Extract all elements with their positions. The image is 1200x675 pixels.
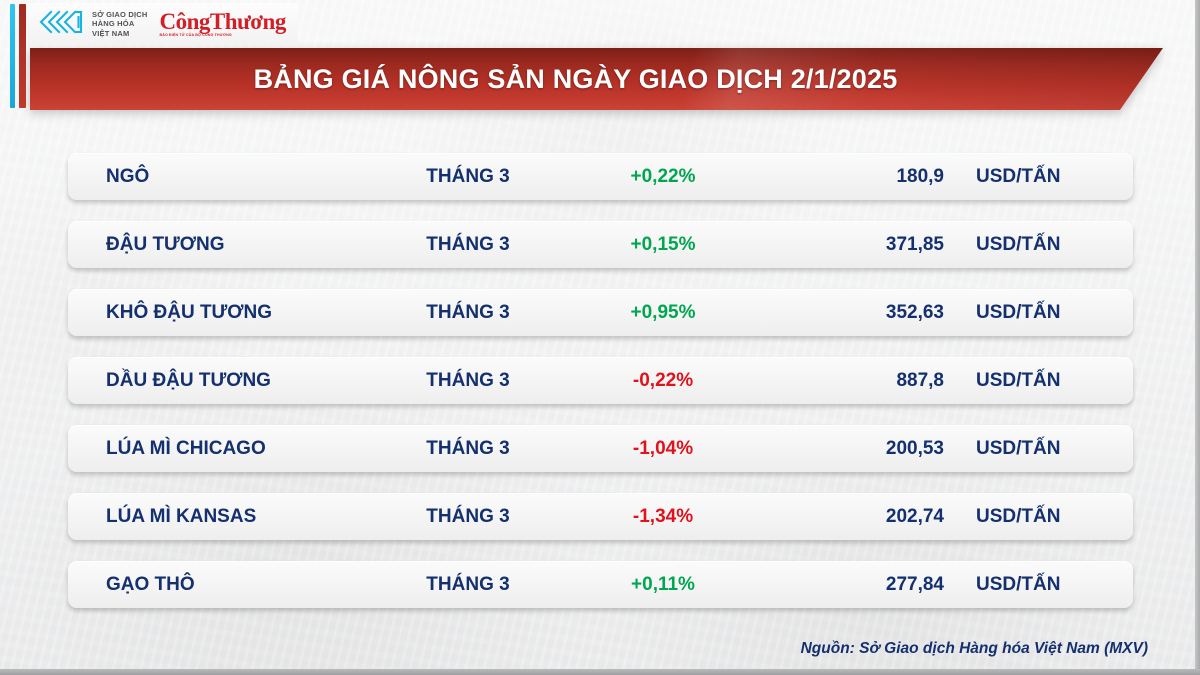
contract-month: THÁNG 3 — [368, 574, 568, 596]
congthuong-wordmark: CôngThương — [159, 10, 285, 33]
title-banner: BẢNG GIÁ NÔNG SẢN NGÀY GIAO DỊCH 2/1/202… — [30, 48, 1163, 110]
change-percent: +0,11% — [568, 574, 758, 596]
table-row[interactable]: LÚA MÌ CHICAGO THÁNG 3 -1,04% 200,53 USD… — [68, 425, 1133, 472]
change-percent: -1,34% — [568, 506, 758, 528]
source-attribution: Nguồn: Sở Giao dịch Hàng hóa Việt Nam (M… — [801, 640, 1148, 658]
price-unit: USD/TẤN — [948, 370, 1108, 392]
contract-month: THÁNG 3 — [368, 370, 568, 392]
accent-bar-cyan — [10, 4, 15, 108]
price-value: 352,63 — [758, 302, 948, 324]
price-value: 887,8 — [758, 370, 948, 392]
mxv-chevron-logo-icon — [38, 9, 84, 40]
table-row[interactable]: GẠO THÔ THÁNG 3 +0,11% 277,84 USD/TẤN — [68, 561, 1133, 608]
contract-month: THÁNG 3 — [368, 438, 568, 460]
frame-right-edge — [1195, 0, 1200, 675]
mxv-logo-text: SỞ GIAO DỊCH HÀNG HÓA VIỆT NAM — [92, 10, 147, 39]
commodity-name: KHÔ ĐẬU TƯƠNG — [68, 302, 368, 324]
contract-month: THÁNG 3 — [368, 302, 568, 324]
page-title: BẢNG GIÁ NÔNG SẢN NGÀY GIAO DỊCH 2/1/202… — [30, 48, 1163, 110]
table-row[interactable]: DẦU ĐẬU TƯƠNG THÁNG 3 -0,22% 887,8 USD/T… — [68, 357, 1133, 404]
accent-bars — [10, 4, 32, 108]
commodity-name: LÚA MÌ CHICAGO — [68, 438, 368, 460]
change-percent: +0,15% — [568, 234, 758, 256]
price-unit: USD/TẤN — [948, 166, 1108, 188]
change-percent: -1,04% — [568, 438, 758, 460]
price-value: 371,85 — [758, 234, 948, 256]
change-percent: +0,95% — [568, 302, 758, 324]
contract-month: THÁNG 3 — [368, 506, 568, 528]
price-unit: USD/TẤN — [948, 506, 1108, 528]
commodity-name: NGÔ — [68, 166, 368, 188]
commodity-name: ĐẬU TƯƠNG — [68, 234, 368, 256]
commodity-name: GẠO THÔ — [68, 574, 368, 596]
table-row[interactable]: KHÔ ĐẬU TƯƠNG THÁNG 3 +0,95% 352,63 USD/… — [68, 289, 1133, 336]
frame-bottom-edge — [0, 669, 1200, 675]
price-value: 180,9 — [758, 166, 948, 188]
table-row[interactable]: NGÔ THÁNG 3 +0,22% 180,9 USD/TẤN — [68, 153, 1133, 200]
contract-month: THÁNG 3 — [368, 166, 568, 188]
congthuong-logo: CôngThương BÁO ĐIỆN TỬ CỦA BỘ CÔNG THƯƠN… — [159, 10, 285, 38]
change-percent: +0,22% — [568, 166, 758, 188]
price-value: 202,74 — [758, 506, 948, 528]
price-value: 200,53 — [758, 438, 948, 460]
congthuong-tagline: BÁO ĐIỆN TỬ CỦA BỘ CÔNG THƯƠNG — [159, 34, 231, 38]
change-percent: -0,22% — [568, 370, 758, 392]
table-row[interactable]: ĐẬU TƯƠNG THÁNG 3 +0,15% 371,85 USD/TẤN — [68, 221, 1133, 268]
logo-strip: SỞ GIAO DỊCH HÀNG HÓA VIỆT NAM CôngThươn… — [28, 3, 298, 45]
price-table: NGÔ THÁNG 3 +0,22% 180,9 USD/TẤN ĐẬU TƯƠ… — [68, 153, 1133, 608]
commodity-name: LÚA MÌ KANSAS — [68, 506, 368, 528]
infographic-canvas: SỞ GIAO DỊCH HÀNG HÓA VIỆT NAM CôngThươn… — [0, 0, 1200, 675]
commodity-name: DẦU ĐẬU TƯƠNG — [68, 370, 368, 392]
price-unit: USD/TẤN — [948, 574, 1108, 596]
mxv-line-3: VIỆT NAM — [92, 29, 129, 38]
mxv-line-2: HÀNG HÓA — [92, 19, 134, 28]
price-unit: USD/TẤN — [948, 302, 1108, 324]
table-row[interactable]: LÚA MÌ KANSAS THÁNG 3 -1,34% 202,74 USD/… — [68, 493, 1133, 540]
accent-bar-red — [19, 4, 26, 108]
contract-month: THÁNG 3 — [368, 234, 568, 256]
mxv-line-1: SỞ GIAO DỊCH — [92, 10, 147, 19]
price-unit: USD/TẤN — [948, 234, 1108, 256]
price-value: 277,84 — [758, 574, 948, 596]
price-unit: USD/TẤN — [948, 438, 1108, 460]
